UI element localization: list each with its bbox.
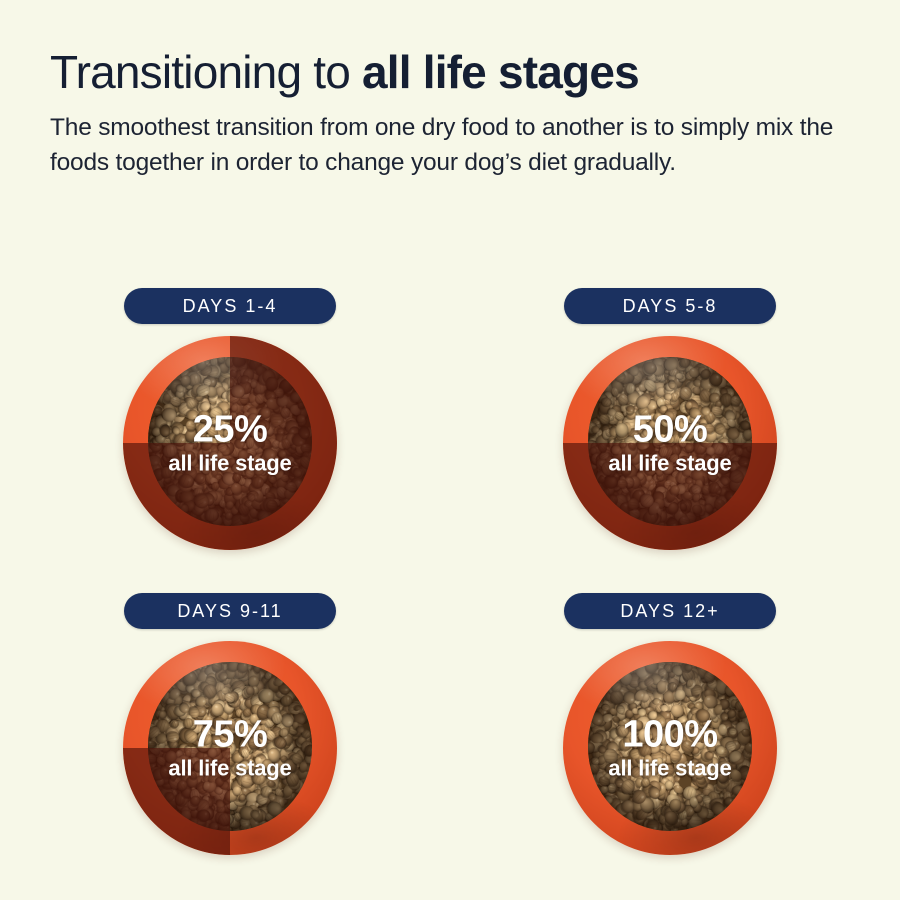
title-regular-part: Transitioning to <box>50 46 362 98</box>
header: Transitioning to all life stages The smo… <box>50 48 865 180</box>
title-bold-part: all life stages <box>362 46 639 98</box>
bowl-body <box>563 641 777 855</box>
bowl-body <box>123 336 337 550</box>
step-badge-days: DAYS 1-4 <box>124 288 336 324</box>
kibble-texture <box>148 357 313 526</box>
kibble-fill <box>588 662 753 831</box>
page-subtitle: The smoothest transition from one dry fo… <box>50 111 840 181</box>
step-badge-days: DAYS 12+ <box>564 593 776 629</box>
food-bowl-1: 50% all life stage <box>563 336 777 550</box>
kibble-fill <box>148 357 313 526</box>
bowl-body <box>123 641 337 855</box>
kibble-fill <box>588 357 753 526</box>
transition-step-2: DAYS 9-11 75% all life stage <box>10 593 450 855</box>
infographic-page: Transitioning to all life stages The smo… <box>0 0 900 900</box>
transition-step-3: DAYS 12+ 100% all life stage <box>450 593 890 855</box>
kibble-texture <box>148 662 313 831</box>
food-bowl-0: 25% all life stage <box>123 336 337 550</box>
step-badge-days: DAYS 9-11 <box>124 593 336 629</box>
kibble-texture <box>588 357 753 526</box>
food-bowl-2: 75% all life stage <box>123 641 337 855</box>
kibble-fill <box>148 662 313 831</box>
transition-step-1: DAYS 5-8 50% all life stage <box>450 288 890 550</box>
kibble-texture <box>588 662 753 831</box>
transition-step-0: DAYS 1-4 25% all life stage <box>10 288 450 550</box>
page-title: Transitioning to all life stages <box>50 48 865 97</box>
food-bowl-3: 100% all life stage <box>563 641 777 855</box>
step-badge-days: DAYS 5-8 <box>564 288 776 324</box>
bowl-body <box>563 336 777 550</box>
